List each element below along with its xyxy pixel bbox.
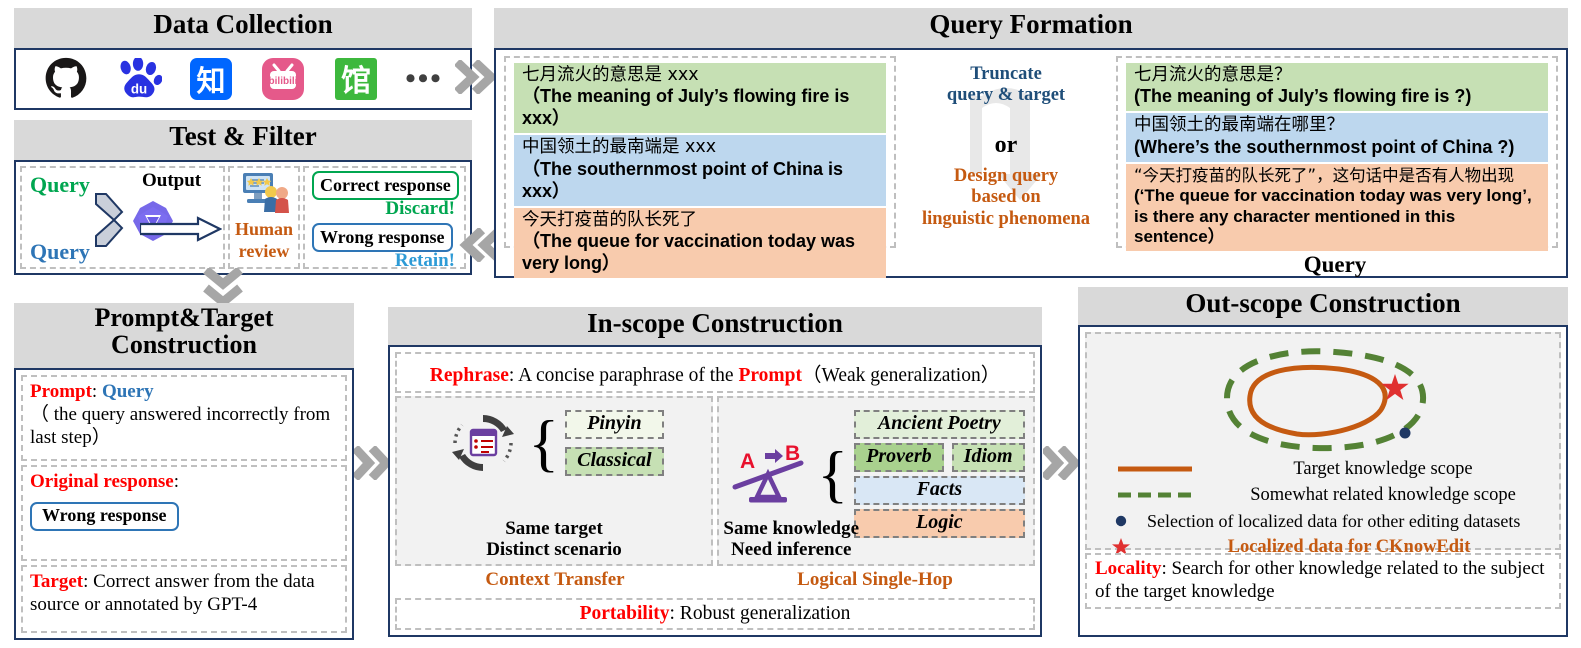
logical-single-hop-cell: A B { Ancient Poetry Proverb Idiom — [717, 396, 1035, 566]
venn-illustration — [1095, 338, 1551, 456]
tag-ancient-poetry: Ancient Poetry — [854, 410, 1024, 439]
locality-label: Locality — [1095, 558, 1162, 579]
context-transfer-caption: Same target Distinct scenario — [397, 519, 711, 561]
data-collection-panel: Data Collection du 知 — [14, 8, 472, 110]
zhihu-logo: 知 — [188, 56, 234, 102]
tag-classical: Classical — [565, 447, 663, 476]
query-item: 七月流火的意思是？ (The meaning of July’s flowing… — [1126, 63, 1548, 111]
svg-text:bilibili: bilibili — [269, 76, 298, 87]
legend-row: Somewhat related knowledge scope — [1095, 482, 1551, 508]
raw-data-cn: 中国领土的最南端是 xxx — [522, 136, 880, 158]
wrong-response-badge: Wrong response — [30, 502, 179, 532]
query-item: “今天打疫苗的队长死了”，这句话中是否有人物出现 (‘The queue for… — [1126, 164, 1548, 251]
raw-data-item: 中国领土的最南端是 xxx （The southernmost point of… — [514, 135, 886, 205]
legend-localized-other: Selection of localized data for other ed… — [1147, 511, 1551, 532]
human-review-group: Human review — [228, 166, 300, 269]
baidu-logo: du — [116, 56, 162, 102]
svg-text:du: du — [130, 81, 146, 96]
solid-line-icon — [1095, 463, 1215, 475]
query-label-bottom: Query — [30, 239, 90, 265]
context-transfer-label: Context Transfer — [395, 569, 715, 595]
prompt-target-title-line2: Construction — [14, 331, 354, 358]
github-logo — [43, 56, 89, 102]
query-footer-label: Query — [1112, 248, 1558, 282]
in-scope-category-labels: Context Transfer Logical Single-Hop — [395, 569, 1035, 595]
scope-curves-icon — [1095, 338, 1555, 456]
wrong-response-badge: Wrong response — [312, 223, 453, 252]
in-scope-panel: In-scope Construction Rephrase: A concis… — [388, 307, 1042, 637]
output-arrow-icon — [140, 216, 222, 242]
prompt-target-panel: Prompt&Target Construction Prompt: Query… — [14, 303, 354, 640]
in-scope-title: In-scope Construction — [388, 307, 1042, 345]
rephrase-text: : A concise paraphrase of the — [509, 365, 739, 386]
logical-single-hop-label: Logical Single-Hop — [715, 569, 1035, 595]
logical-single-hop-caption: Same knowledge Need inference — [719, 519, 863, 561]
baidu-baike-logo: 馆 — [333, 56, 379, 102]
portability-label: Portability — [580, 603, 670, 624]
svg-text:A: A — [740, 450, 755, 473]
raw-data-item: 今天打疫苗的队长死了 （The queue for vaccination to… — [514, 208, 886, 278]
raw-data-en: （The queue for vaccination today was ver… — [522, 231, 880, 275]
query-formation-body: 七月流火的意思是 xxx （The meaning of July’s flow… — [494, 48, 1568, 278]
arrow-right-to-in-scope — [354, 446, 392, 480]
legend-target-scope: Target knowledge scope — [1215, 459, 1551, 480]
tag-facts: Facts — [854, 476, 1024, 505]
knowledge-scope-diagram: Target knowledge scope Somewhat related … — [1085, 332, 1561, 550]
test-filter-body: Query Query Output — [14, 160, 472, 275]
portability-row: Portability: Robust generalization — [395, 598, 1035, 630]
query-cn: 七月流火的意思是？ — [1134, 64, 1542, 86]
out-scope-title: Out-scope Construction — [1078, 287, 1568, 325]
arrow-right-to-query-formation — [455, 60, 499, 94]
query-formation-panel: Query Formation 七月流火的意思是 xxx （The meanin… — [494, 8, 1568, 278]
left-brace-icon: { — [528, 420, 559, 466]
data-collection-logos: du 知 bilibili 馆 ••• — [14, 48, 472, 110]
raw-data-en: （The meaning of July’s flowing fire is x… — [522, 86, 880, 130]
prompt-target-title-line1: Prompt&Target — [14, 304, 354, 331]
test-filter-input-group: Query Query Output — [20, 166, 225, 269]
right-brace-icon: { — [817, 451, 848, 497]
query-formation-title: Query Formation — [494, 8, 1568, 48]
prompt-note: （ the query answered incorrectly from la… — [30, 404, 338, 450]
test-filter-title: Test & Filter — [14, 120, 472, 160]
raw-data-cn: 今天打疫苗的队长死了 — [522, 209, 880, 231]
converging-arrows-icon — [94, 192, 134, 250]
arrow-right-to-out-scope — [1043, 446, 1081, 480]
portability-text: : Robust generalization — [670, 603, 851, 624]
more-sources-ellipsis: ••• — [405, 73, 443, 85]
prompt-section: Prompt: Query （ the query answered incor… — [21, 375, 347, 461]
rephrase-tail: （Weak generalization） — [802, 365, 1000, 386]
transformation-column: Truncate query & target or Design query … — [902, 56, 1110, 248]
query-column: 七月流火的意思是？ (The meaning of July’s flowing… — [1116, 56, 1558, 248]
query-cn: 中国领土的最南端在哪里？ — [1134, 114, 1542, 136]
prompt-value: Query — [102, 381, 154, 402]
legend-row: Selection of localized data for other ed… — [1095, 508, 1551, 534]
tag-pinyin: Pinyin — [565, 410, 663, 439]
svg-text:馆: 馆 — [341, 64, 371, 99]
dot-marker-icon — [1095, 512, 1147, 530]
data-collection-title: Data Collection — [14, 8, 472, 48]
raw-data-item: 七月流火的意思是 xxx （The meaning of July’s flow… — [514, 63, 886, 133]
design-query-instruction: Design query based on linguistic phenome… — [902, 166, 1110, 230]
rephrase-prompt-ref: Prompt — [738, 365, 802, 386]
target-section: Target: Correct answer from the data sou… — [21, 565, 347, 633]
query-label-top: Query — [30, 172, 90, 198]
human-review-label-line1: Human — [230, 220, 298, 238]
prompt-target-body: Prompt: Query （ the query answered incor… — [14, 368, 354, 640]
context-transfer-cell: { Pinyin Classical Same target Distinct … — [395, 396, 713, 566]
rephrase-row: Rephrase: A concise paraphrase of the Pr… — [395, 352, 1035, 393]
context-transfer-icon — [444, 406, 522, 480]
original-response-label: Original response — [30, 471, 174, 492]
out-scope-panel: Out-scope Construction Target knowledge … — [1078, 287, 1568, 637]
test-filter-panel: Test & Filter Query Query Output — [14, 120, 472, 275]
raw-data-column: 七月流火的意思是 xxx （The meaning of July’s flow… — [504, 56, 896, 248]
review-outcome-group: Correct response Discard! Wrong response… — [303, 166, 466, 269]
tag-proverb: Proverb — [854, 443, 944, 472]
locality-text: : Search for other knowledge related to … — [1095, 558, 1545, 602]
legend-row: Target knowledge scope — [1095, 456, 1551, 482]
svg-text:知: 知 — [197, 64, 226, 98]
tag-idiom: Idiom — [952, 443, 1025, 472]
raw-data-en: （The southernmost point of China is xxx） — [522, 159, 880, 203]
output-label: Output — [142, 170, 201, 192]
target-label: Target — [30, 571, 83, 592]
query-en: (The meaning of July’s flowing fire is ?… — [1134, 86, 1542, 108]
bilibili-logo: bilibili — [260, 56, 306, 102]
in-scope-body: Rephrase: A concise paraphrase of the Pr… — [388, 345, 1042, 637]
rephrase-label: Rephrase — [430, 365, 509, 386]
dashed-line-icon — [1095, 489, 1215, 501]
tag-logic: Logic — [854, 509, 1024, 538]
prompt-target-title: Prompt&Target Construction — [14, 303, 354, 368]
raw-data-cn: 七月流火的意思是 xxx — [522, 64, 880, 86]
or-label: or — [902, 132, 1110, 159]
discard-label: Discard! — [385, 198, 455, 220]
locality-row: Locality: Search for other knowledge rel… — [1085, 553, 1561, 609]
query-item: 中国领土的最南端在哪里？ (Where’s the southernmost p… — [1126, 113, 1548, 161]
human-review-icon — [239, 170, 293, 218]
query-cn: “今天打疫苗的队长死了”，这句话中是否有人物出现 — [1134, 165, 1542, 186]
correct-response-badge: Correct response — [312, 171, 459, 200]
truncate-instruction: Truncate query & target — [902, 64, 1110, 107]
out-scope-body: Target knowledge scope Somewhat related … — [1078, 325, 1568, 637]
legend-related-scope: Somewhat related knowledge scope — [1215, 485, 1551, 506]
human-review-label-line2: review — [230, 242, 298, 260]
retain-label: Retain! — [395, 250, 455, 272]
original-response-section: Original response: Wrong response — [21, 465, 347, 561]
balance-scale-icon: A B — [727, 441, 811, 507]
query-en: (Where’s the southernmost point of China… — [1134, 137, 1542, 159]
prompt-label: Prompt — [30, 381, 92, 402]
query-en: (‘The queue for vaccination today was ve… — [1134, 186, 1542, 248]
